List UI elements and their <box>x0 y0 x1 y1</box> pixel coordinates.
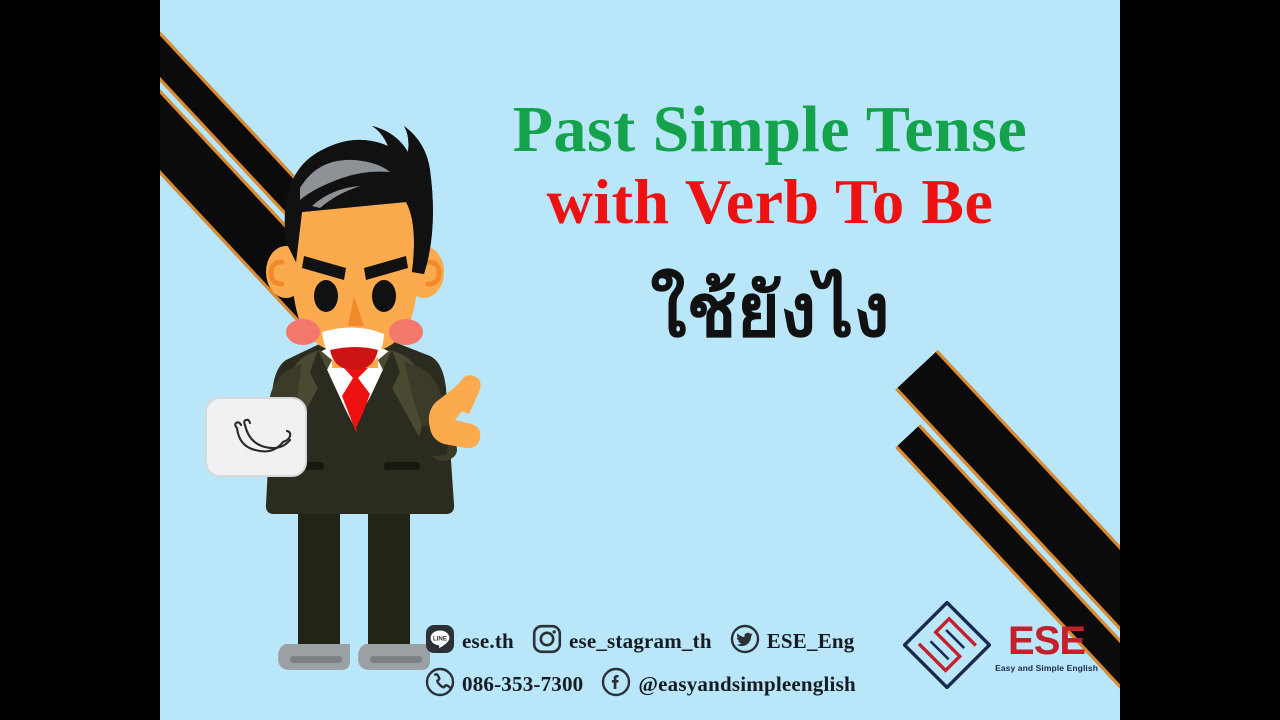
line-icon: LINE <box>425 624 455 659</box>
contact-footer: LINE ese.th ese_stagram_th <box>425 624 856 702</box>
contact-twitter[interactable]: ESE_Eng <box>730 624 855 659</box>
instagram-icon <box>532 624 562 659</box>
contact-line[interactable]: LINE ese.th <box>425 624 514 659</box>
contact-row: 086-353-7300 @easyandsimpleenglish <box>425 667 856 702</box>
ese-diamond-mark-icon <box>903 601 991 694</box>
phone-icon <box>425 667 455 702</box>
slide-stage: Past Simple Tense with Verb To Be ใช้ยัง… <box>0 0 1280 720</box>
facebook-icon <box>601 667 631 702</box>
headings-block: Past Simple Tense with Verb To Be ใช้ยัง… <box>430 95 1110 358</box>
contact-facebook[interactable]: @easyandsimpleenglish <box>601 667 855 702</box>
ese-acronym: ESE <box>1008 622 1085 660</box>
contact-facebook-label: @easyandsimpleenglish <box>638 672 855 697</box>
letterbox-right-bar <box>1120 0 1280 720</box>
contact-phone-label: 086-353-7300 <box>462 672 583 697</box>
twitter-icon <box>730 624 760 659</box>
svg-text:LINE: LINE <box>433 635 447 642</box>
contact-instagram[interactable]: ese_stagram_th <box>532 624 712 659</box>
contact-line-label: ese.th <box>462 629 514 654</box>
heading-past-simple-tense: Past Simple Tense <box>430 95 1110 164</box>
contact-row: LINE ese.th ese_stagram_th <box>425 624 856 659</box>
contact-phone[interactable]: 086-353-7300 <box>425 667 583 702</box>
contact-instagram-label: ese_stagram_th <box>569 629 712 654</box>
letterbox-left-bar <box>0 0 160 720</box>
slide-canvas: Past Simple Tense with Verb To Be ใช้ยัง… <box>160 0 1120 720</box>
ese-logo-text: ESE Easy and Simple English <box>995 622 1098 673</box>
contact-twitter-label: ESE_Eng <box>767 629 855 654</box>
heading-with-verb-to-be: with Verb To Be <box>430 168 1110 235</box>
ese-tagline: Easy and Simple English <box>995 663 1098 673</box>
heading-thai-subtitle: ใช้ยังไง <box>430 265 1110 358</box>
ese-logo: ESE Easy and Simple English <box>903 601 1098 694</box>
cartoon-businessman-illustration <box>190 110 520 710</box>
